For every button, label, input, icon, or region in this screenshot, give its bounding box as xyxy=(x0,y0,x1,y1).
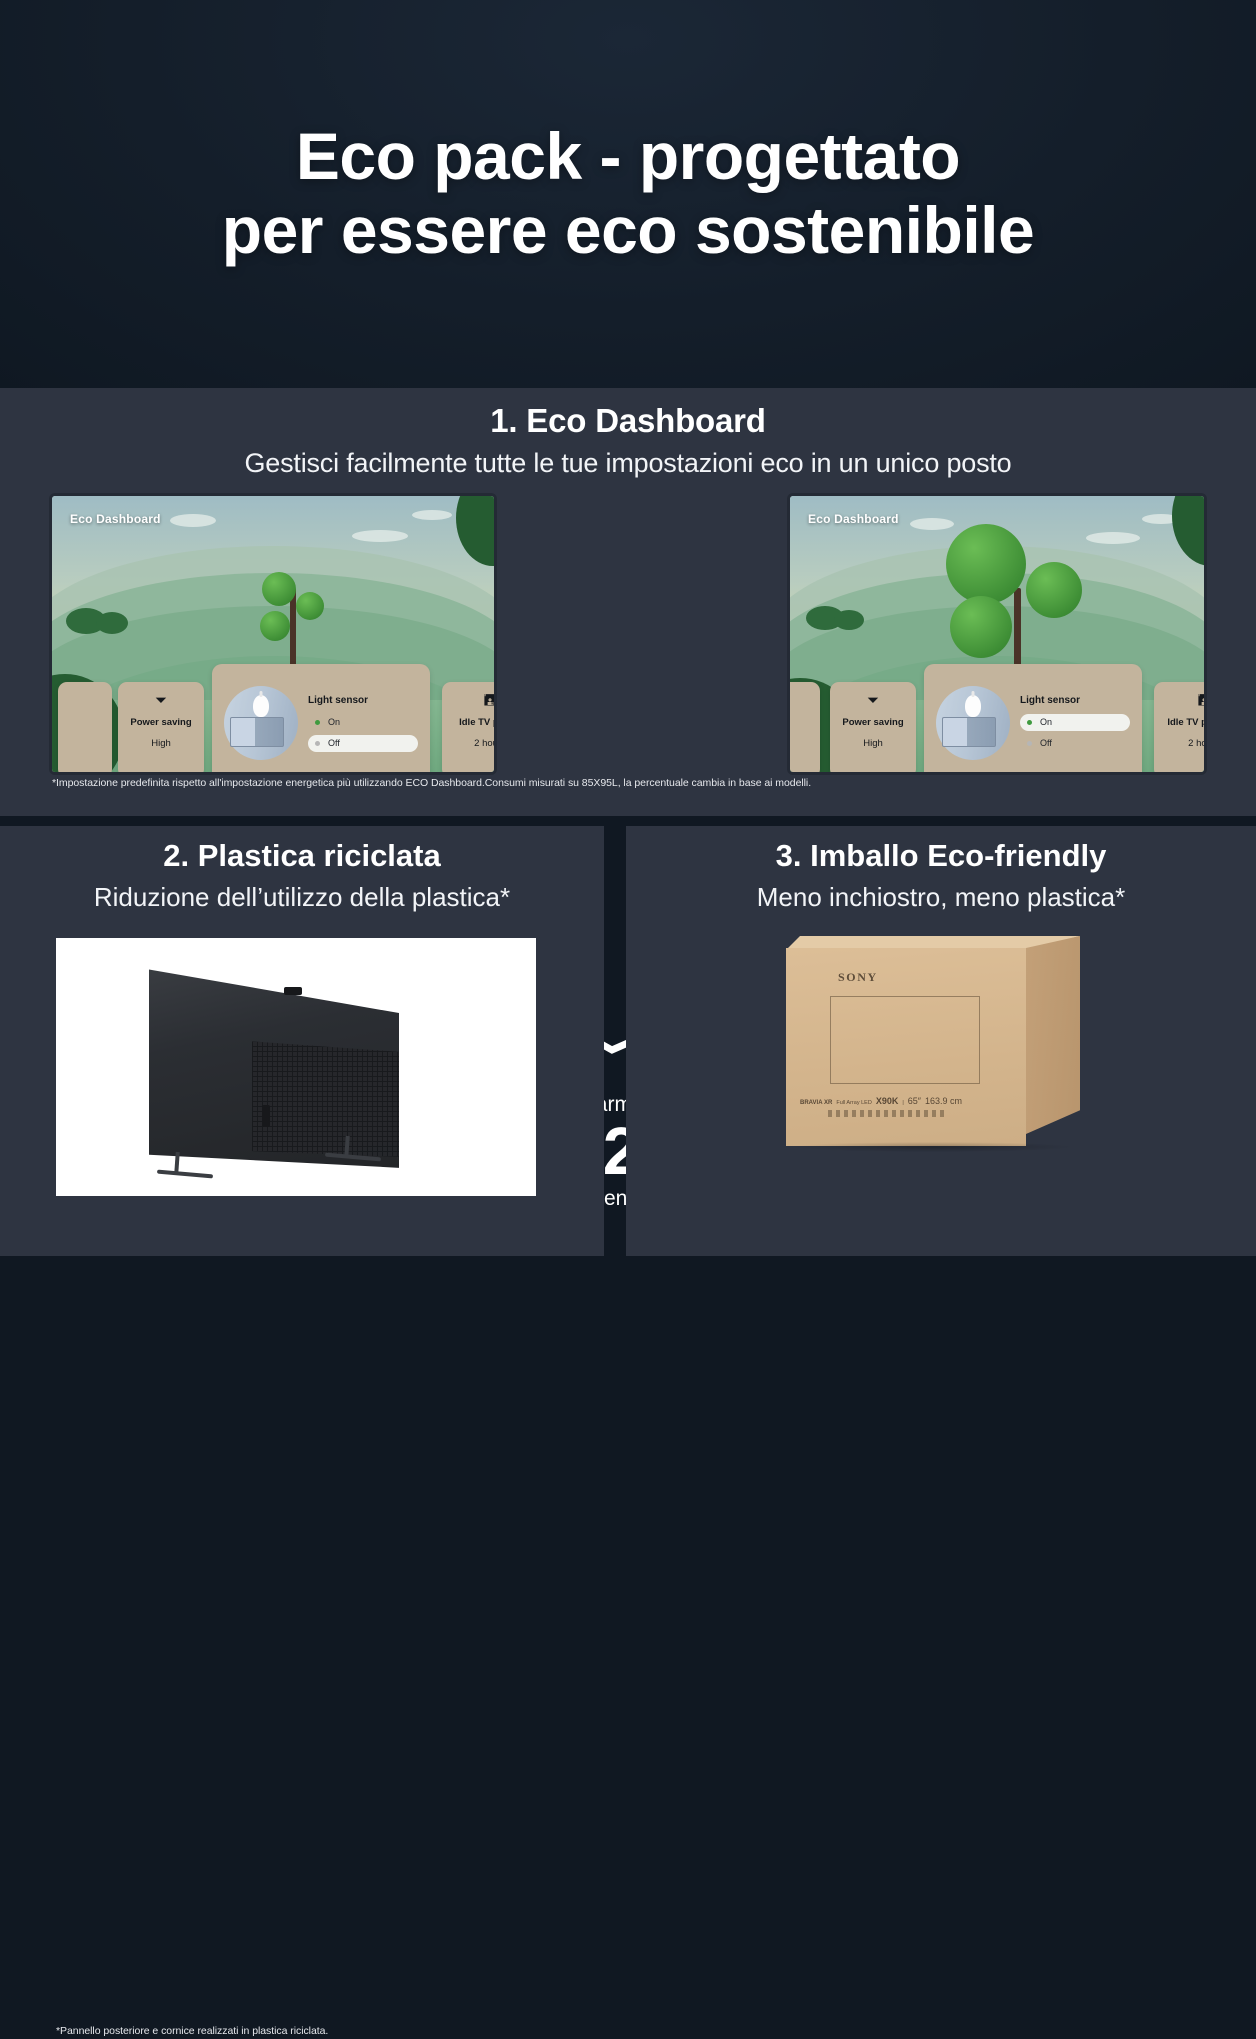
cloud-icon xyxy=(412,510,452,520)
tv-rear-panel-photo xyxy=(56,938,536,1196)
bush-shape xyxy=(834,610,864,630)
cloud-icon xyxy=(352,530,408,542)
tv-grid-texture xyxy=(252,1041,400,1157)
tv-rear-illustration xyxy=(149,952,399,1170)
radio-option-off[interactable]: Off xyxy=(1020,735,1130,752)
card-power-saving-value: High xyxy=(830,738,916,749)
radio-option-on-label: On xyxy=(328,717,340,727)
box-side-face xyxy=(1026,936,1080,1134)
box-spec-brand: BRAVIA XR xyxy=(800,1100,832,1106)
eco-dashboard-label: Eco Dashboard xyxy=(70,512,161,526)
card-light-sensor[interactable]: Light sensor On Off xyxy=(924,664,1142,772)
card-power-saving[interactable]: ⏷ Power saving High xyxy=(830,682,916,772)
hero-banner: Eco pack - progettato per essere eco sos… xyxy=(0,0,1256,388)
card-idle-title: Idle TV power xyxy=(442,717,494,728)
light-sensor-title: Light sensor xyxy=(1020,695,1130,706)
light-sensor-body: Light sensor On Off xyxy=(308,695,418,752)
tv-screen-left: Eco Dashboard ⏷ Power saving High Light … xyxy=(52,496,494,772)
card-idle-tv-power[interactable]: 🖪 Idle TV power of 2 hours xyxy=(1154,682,1204,772)
section-eco-dashboard: 1. Eco Dashboard Gestisci facilmente tut… xyxy=(0,388,1256,816)
section1-heading: 1. Eco Dashboard xyxy=(0,388,1256,440)
box-spec-size: 65″ xyxy=(908,1096,921,1106)
tree-trunk xyxy=(1014,588,1021,668)
box-spec-metric: 163.9 cm xyxy=(925,1096,962,1106)
section3-heading: 3. Imballo Eco-friendly xyxy=(626,826,1256,874)
box-spec-model: X90K xyxy=(876,1096,899,1106)
section3-subheading: Meno inchiostro, meno plastica* xyxy=(626,874,1256,913)
card-power-saving-title: Power saving xyxy=(830,717,916,728)
card-partial-left[interactable] xyxy=(58,682,112,772)
tree-leaf xyxy=(296,592,324,620)
bush-shape xyxy=(96,612,128,634)
cloud-icon xyxy=(910,518,954,530)
section1-footnote: *Impostazione predefinita rispetto all'i… xyxy=(52,776,811,790)
power-saving-icon: ⏷ xyxy=(118,693,204,708)
bulb-icon xyxy=(253,695,269,717)
section2-heading: 2. Plastica riciclata xyxy=(0,826,604,874)
mini-tv-icon xyxy=(230,717,284,747)
tv-off-icon: 🖪 xyxy=(1154,693,1204,708)
box-icon-strip xyxy=(828,1110,948,1117)
radio-dot-icon xyxy=(315,741,320,746)
recycle-mark-icon xyxy=(1114,1096,1126,1108)
tv-connector-icon xyxy=(284,987,302,995)
card-idle-tv-power[interactable]: 🖪 Idle TV power 2 hours xyxy=(442,682,494,772)
radio-option-on[interactable]: On xyxy=(308,714,418,731)
section2-footnote: *Pannello posteriore e cornice realizzat… xyxy=(56,2024,328,2038)
box-spec-tech: Full Array LED xyxy=(836,1100,871,1106)
tree-leaf xyxy=(260,611,290,641)
eco-package-illustration: SONY BRAVIA XR Full Array LED X90K | 65″… xyxy=(786,936,1106,1166)
tv-port-icon xyxy=(262,1105,270,1127)
card-power-saving-title: Power saving xyxy=(118,717,204,728)
radio-option-on-label: On xyxy=(1040,717,1052,727)
radio-option-on[interactable]: On xyxy=(1020,714,1130,731)
tree-leaf xyxy=(946,524,1026,604)
card-power-saving[interactable]: ⏷ Power saving High xyxy=(118,682,204,772)
tree-leaf xyxy=(1026,562,1082,618)
tree-leaf xyxy=(262,572,296,606)
tv-foot xyxy=(157,1170,213,1179)
box-tv-outline xyxy=(830,996,980,1084)
eco-dashboard-label: Eco Dashboard xyxy=(808,512,899,526)
card-light-sensor[interactable]: Light sensor On Off xyxy=(212,664,430,772)
card-power-saving-value: High xyxy=(118,738,204,749)
tree-leaf xyxy=(950,596,1012,658)
cloud-icon xyxy=(1086,532,1140,544)
radio-option-off[interactable]: Off xyxy=(308,735,418,752)
page-title-line1: Eco pack - progettato xyxy=(222,120,1034,194)
card-partial-left[interactable] xyxy=(790,682,820,772)
tv-off-icon: 🖪 xyxy=(442,693,494,708)
section-recycled-plastic: 2. Plastica riciclata Riduzione dell’uti… xyxy=(0,826,604,1256)
power-saving-icon: ⏷ xyxy=(830,693,916,708)
radio-dot-icon xyxy=(1027,741,1032,746)
light-sensor-icon xyxy=(936,686,1010,760)
section-eco-packaging: 3. Imballo Eco-friendly Meno inchiostro,… xyxy=(626,826,1256,1256)
box-front-face: SONY BRAVIA XR Full Array LED X90K | 65″… xyxy=(786,948,1026,1146)
radio-dot-icon xyxy=(315,720,320,725)
radio-dot-icon xyxy=(1027,720,1032,725)
section2-subheading: Riduzione dell’utilizzo della plastica* xyxy=(0,874,604,913)
tv-screen-right: Eco Dashboard ⏷ Power saving High Light … xyxy=(790,496,1204,772)
card-idle-title: Idle TV power of xyxy=(1154,717,1204,728)
box-spec-line: BRAVIA XR Full Array LED X90K | 65″ 163.… xyxy=(800,1096,1012,1106)
card-idle-value: 2 hours xyxy=(1154,738,1204,749)
mini-tv-icon xyxy=(942,717,996,747)
card-idle-value: 2 hours xyxy=(442,738,494,749)
radio-option-off-label: Off xyxy=(1040,738,1052,748)
box-shadow xyxy=(792,1142,1072,1152)
bulb-icon xyxy=(965,695,981,717)
light-sensor-title: Light sensor xyxy=(308,695,418,706)
tv-comparison-row: Eco Dashboard ⏷ Power saving High Light … xyxy=(0,496,1256,774)
section1-subheading: Gestisci facilmente tutte le tue imposta… xyxy=(0,440,1256,479)
page-title: Eco pack - progettato per essere eco sos… xyxy=(222,120,1034,268)
light-sensor-icon xyxy=(224,686,298,760)
page-title-line2: per essere eco sostenibile xyxy=(222,194,1034,268)
sony-logo: SONY xyxy=(838,970,878,985)
light-sensor-body: Light sensor On Off xyxy=(1020,695,1130,752)
cloud-icon xyxy=(170,514,216,527)
eco-pack-infographic: Eco pack - progettato per essere eco sos… xyxy=(0,0,1256,1256)
radio-option-off-label: Off xyxy=(328,738,340,748)
